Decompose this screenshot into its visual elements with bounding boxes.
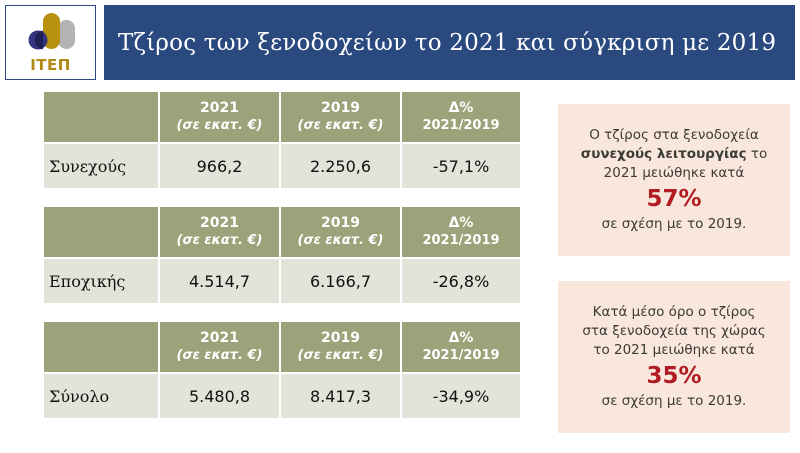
- column-header-delta-sub: 2021/2019: [402, 348, 520, 364]
- column-header-delta-main: Δ%: [449, 330, 474, 346]
- table-row: Σύνολο 5.480,8 8.417,3 -34,9%: [43, 373, 521, 419]
- column-header-2019-sub: (σε εκατ. €): [281, 118, 400, 134]
- column-header-2021-sub: (σε εκατ. €): [160, 348, 279, 364]
- cell-2021: 5.480,8: [159, 373, 280, 419]
- callout-line-3: το 2021 μειώθηκε κατά: [593, 341, 754, 360]
- column-header-2019-sub: (σε εκατ. €): [281, 233, 400, 249]
- logo-wordmark: ΙΤΕΠ: [6, 56, 95, 74]
- cell-2021: 4.514,7: [159, 258, 280, 304]
- column-header-2021-main: 2021: [200, 215, 239, 231]
- table-row: Συνεχούς 966,2 2.250,6 -57,1%: [43, 143, 521, 189]
- table-header-row: 2021 (σε εκατ. €) 2019 (σε εκατ. €) Δ% 2…: [43, 206, 521, 258]
- column-header-2019: 2019 (σε εκατ. €): [280, 91, 401, 143]
- column-header-2021-main: 2021: [200, 330, 239, 346]
- callout-continuous: Ο τζίρος στα ξενοδοχεία συνεχούς λειτουρ…: [558, 104, 790, 256]
- column-header-2021: 2021 (σε εκατ. €): [159, 206, 280, 258]
- table-corner-cell: [43, 321, 159, 373]
- cell-2021: 966,2: [159, 143, 280, 189]
- callout-percent: 35%: [646, 364, 701, 389]
- row-label: Συνεχούς: [43, 143, 159, 189]
- column-header-2021: 2021 (σε εκατ. €): [159, 321, 280, 373]
- column-header-2021-main: 2021: [200, 100, 239, 116]
- callout-line-2-rest: στα ξενοδοχεία της χώρας: [582, 323, 765, 339]
- row-label: Σύνολο: [43, 373, 159, 419]
- column-header-delta: Δ% 2021/2019: [401, 206, 521, 258]
- itep-logo-icon: [6, 10, 95, 56]
- column-header-2019-main: 2019: [321, 330, 360, 346]
- callout-line-3: 2021 μειώθηκε κατά: [604, 164, 745, 183]
- column-header-delta-sub: 2021/2019: [402, 118, 520, 134]
- table-header-row: 2021 (σε εκατ. €) 2019 (σε εκατ. €) Δ% 2…: [43, 91, 521, 143]
- callout-line-2-rest: το: [747, 146, 768, 162]
- column-header-delta: Δ% 2021/2019: [401, 91, 521, 143]
- column-header-2021-sub: (σε εκατ. €): [160, 233, 279, 249]
- column-header-2019: 2019 (σε εκατ. €): [280, 206, 401, 258]
- table-epochikis: 2021 (σε εκατ. €) 2019 (σε εκατ. €) Δ% 2…: [42, 205, 522, 305]
- column-header-delta-sub: 2021/2019: [402, 233, 520, 249]
- cell-delta: -26,8%: [401, 258, 521, 304]
- logo-box: ΙΤΕΠ: [5, 5, 96, 80]
- cell-2019: 8.417,3: [280, 373, 401, 419]
- column-header-delta: Δ% 2021/2019: [401, 321, 521, 373]
- table-row: Εποχικής 4.514,7 6.166,7 -26,8%: [43, 258, 521, 304]
- callout-line-2: συνεχούς λειτουργίας το: [581, 145, 768, 164]
- callout-average: Κατά μέσο όρο ο τζίρος στα ξενοδοχεία τη…: [558, 281, 790, 433]
- callout-line-4: σε σχέση με το 2019.: [602, 392, 747, 411]
- cell-delta: -34,9%: [401, 373, 521, 419]
- page-title: Τζίρος των ξενοδοχείων το 2021 και σύγκρ…: [118, 5, 787, 80]
- column-header-2021: 2021 (σε εκατ. €): [159, 91, 280, 143]
- table-synolo: 2021 (σε εκατ. €) 2019 (σε εκατ. €) Δ% 2…: [42, 320, 522, 420]
- callout-line-1: Κατά μέσο όρο ο τζίρος: [593, 303, 756, 322]
- column-header-delta-main: Δ%: [449, 100, 474, 116]
- callout-line-4: σε σχέση με το 2019.: [602, 215, 747, 234]
- cell-2019: 2.250,6: [280, 143, 401, 189]
- table-header-row: 2021 (σε εκατ. €) 2019 (σε εκατ. €) Δ% 2…: [43, 321, 521, 373]
- callout-percent: 57%: [646, 187, 701, 212]
- table-corner-cell: [43, 91, 159, 143]
- callout-line-2: στα ξενοδοχεία της χώρας: [582, 322, 765, 341]
- column-header-2019-main: 2019: [321, 215, 360, 231]
- cell-2019: 6.166,7: [280, 258, 401, 304]
- callout-line-1: Ο τζίρος στα ξενοδοχεία: [589, 126, 759, 145]
- column-header-delta-main: Δ%: [449, 215, 474, 231]
- column-header-2021-sub: (σε εκατ. €): [160, 118, 279, 134]
- table-synechous: 2021 (σε εκατ. €) 2019 (σε εκατ. €) Δ% 2…: [42, 90, 522, 190]
- column-header-2019-sub: (σε εκατ. €): [281, 348, 400, 364]
- column-header-2019-main: 2019: [321, 100, 360, 116]
- column-header-2019: 2019 (σε εκατ. €): [280, 321, 401, 373]
- callout-line-2-bold: συνεχούς λειτουργίας: [581, 146, 747, 162]
- row-label: Εποχικής: [43, 258, 159, 304]
- table-corner-cell: [43, 206, 159, 258]
- header-band: Τζίρος των ξενοδοχείων το 2021 και σύγκρ…: [104, 5, 795, 80]
- cell-delta: -57,1%: [401, 143, 521, 189]
